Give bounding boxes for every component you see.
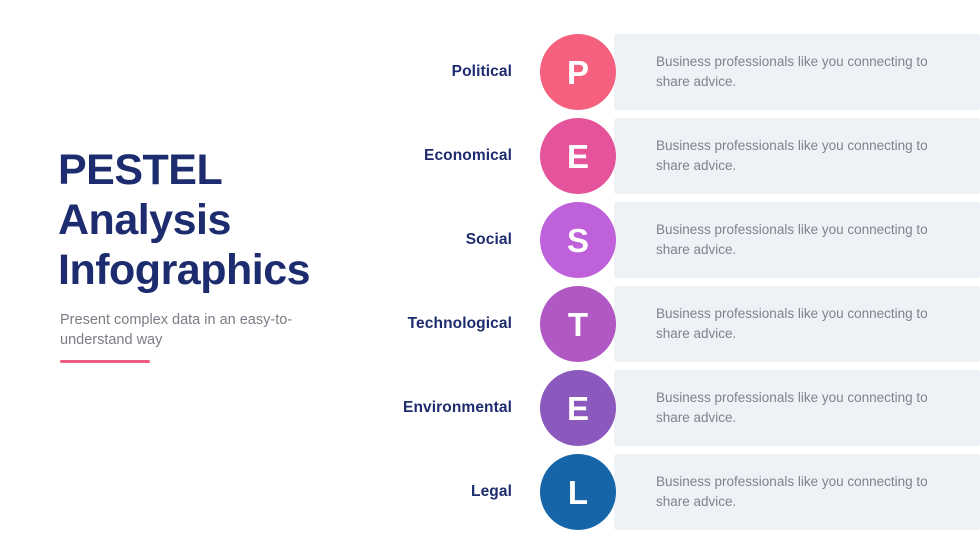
pestel-row-label: Environmental bbox=[300, 399, 512, 417]
pestel-row: PoliticalPBusiness professionals like yo… bbox=[0, 34, 980, 110]
pestel-row: EconomicalEBusiness professionals like y… bbox=[0, 118, 980, 194]
pestel-row-label: Legal bbox=[300, 483, 512, 501]
pestel-row-label: Technological bbox=[300, 315, 512, 333]
pestel-letter-badge: T bbox=[540, 286, 616, 362]
pestel-row-text: Business professionals like you connecti… bbox=[656, 304, 956, 344]
pestel-row-list: PoliticalPBusiness professionals like yo… bbox=[0, 34, 980, 538]
pestel-letter-badge: L bbox=[540, 454, 616, 530]
pestel-letter-badge: P bbox=[540, 34, 616, 110]
pestel-row-label: Political bbox=[300, 63, 512, 81]
pestel-row-text: Business professionals like you connecti… bbox=[656, 472, 956, 512]
pestel-row-label: Economical bbox=[300, 147, 512, 165]
pestel-infographic-slide: PESTEL Analysis Infographics Present com… bbox=[0, 0, 980, 551]
pestel-row: TechnologicalTBusiness professionals lik… bbox=[0, 286, 980, 362]
pestel-letter-badge: S bbox=[540, 202, 616, 278]
pestel-letter-badge: E bbox=[540, 370, 616, 446]
pestel-row-text: Business professionals like you connecti… bbox=[656, 388, 956, 428]
pestel-row-label: Social bbox=[300, 231, 512, 249]
pestel-row: LegalLBusiness professionals like you co… bbox=[0, 454, 980, 530]
pestel-row: SocialSBusiness professionals like you c… bbox=[0, 202, 980, 278]
pestel-row-text: Business professionals like you connecti… bbox=[656, 220, 956, 260]
pestel-letter-badge: E bbox=[540, 118, 616, 194]
pestel-row-text: Business professionals like you connecti… bbox=[656, 136, 956, 176]
pestel-row: EnvironmentalEBusiness professionals lik… bbox=[0, 370, 980, 446]
pestel-row-text: Business professionals like you connecti… bbox=[656, 52, 956, 92]
